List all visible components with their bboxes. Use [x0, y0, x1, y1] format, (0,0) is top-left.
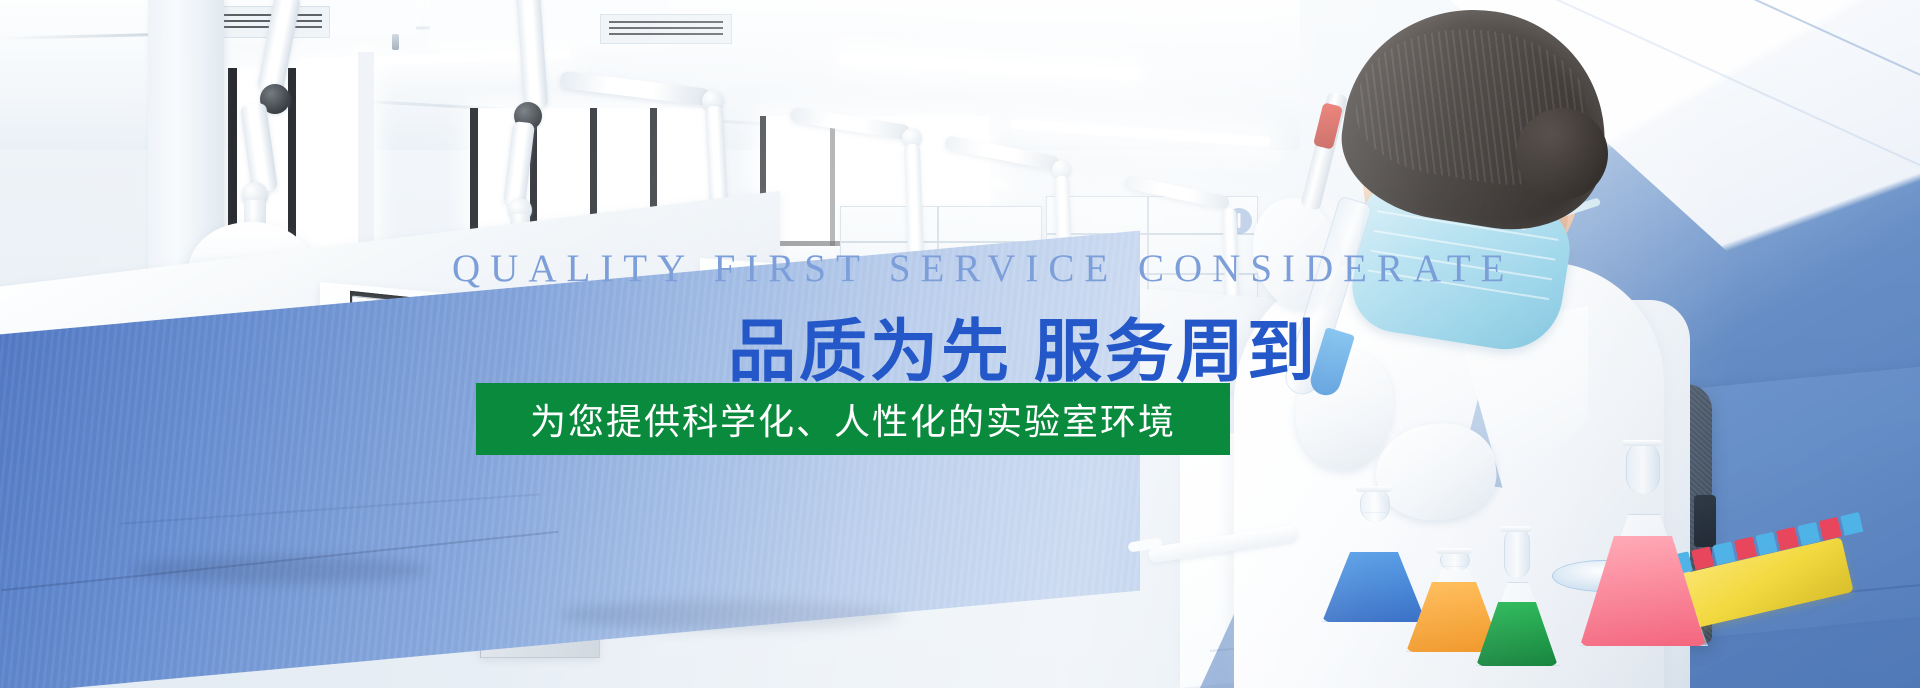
- banner-copy: QUALITY FIRST SERVICE CONSIDERATE 品质为先 服…: [0, 0, 1920, 688]
- chinese-headline: 品质为先 服务周到: [728, 296, 1318, 395]
- subtitle-text: 为您提供科学化、人性化的实验室环境: [530, 393, 1176, 445]
- english-tagline: QUALITY FIRST SERVICE CONSIDERATE: [452, 246, 1515, 291]
- hero-banner: QUALITY FIRST SERVICE CONSIDERATE 品质为先 服…: [0, 0, 1920, 688]
- subtitle-green-bar: 为您提供科学化、人性化的实验室环境: [476, 383, 1230, 455]
